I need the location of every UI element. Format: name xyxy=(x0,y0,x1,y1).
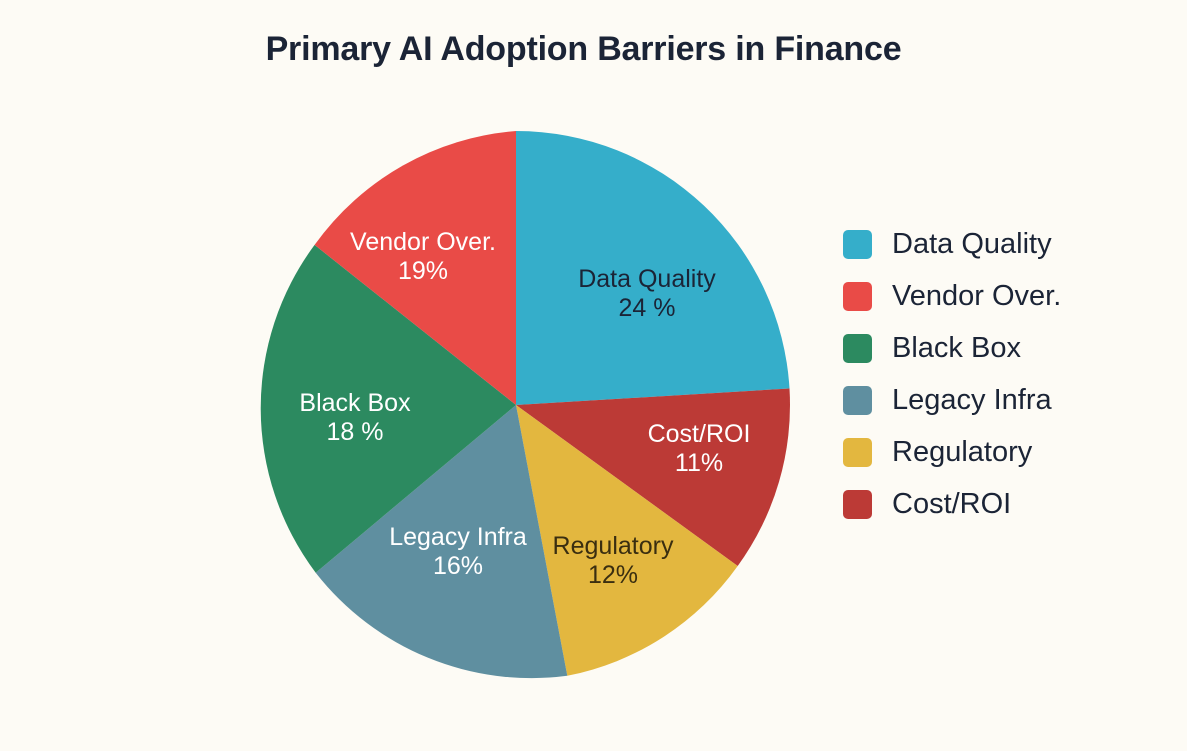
legend-swatch-icon xyxy=(843,438,872,467)
legend-item-regulatory[interactable]: Regulatory xyxy=(843,426,1143,478)
legend-label: Vendor Over. xyxy=(892,280,1061,313)
pie-chart-figure: Primary AI Adoption Barriers in Finance … xyxy=(0,0,1187,751)
legend-label: Cost/ROI xyxy=(892,488,1011,521)
legend-item-vendor-over[interactable]: Vendor Over. xyxy=(843,270,1143,322)
legend-swatch-icon xyxy=(843,490,872,519)
legend-swatch-icon xyxy=(843,386,872,415)
legend-swatch-icon xyxy=(843,282,872,311)
legend-item-black-box[interactable]: Black Box xyxy=(843,322,1143,374)
legend-label: Regulatory xyxy=(892,436,1032,469)
legend-item-cost-roi[interactable]: Cost/ROI xyxy=(843,478,1143,530)
pie-slice-data-quality[interactable] xyxy=(516,131,790,405)
legend-item-legacy-infra[interactable]: Legacy Infra xyxy=(843,374,1143,426)
legend-swatch-icon xyxy=(843,230,872,259)
chart-title: Primary AI Adoption Barriers in Finance xyxy=(0,30,1167,69)
legend-label: Legacy Infra xyxy=(892,384,1052,417)
chart-legend: Data Quality Vendor Over. Black Box Lega… xyxy=(843,218,1143,530)
pie-svg xyxy=(232,112,802,698)
legend-item-data-quality[interactable]: Data Quality xyxy=(843,218,1143,270)
legend-label: Black Box xyxy=(892,332,1021,365)
legend-label: Data Quality xyxy=(892,228,1052,261)
pie-chart-plot: Data Quality 24 % Cost/ROI 11% Regulator… xyxy=(232,112,802,698)
legend-swatch-icon xyxy=(843,334,872,363)
